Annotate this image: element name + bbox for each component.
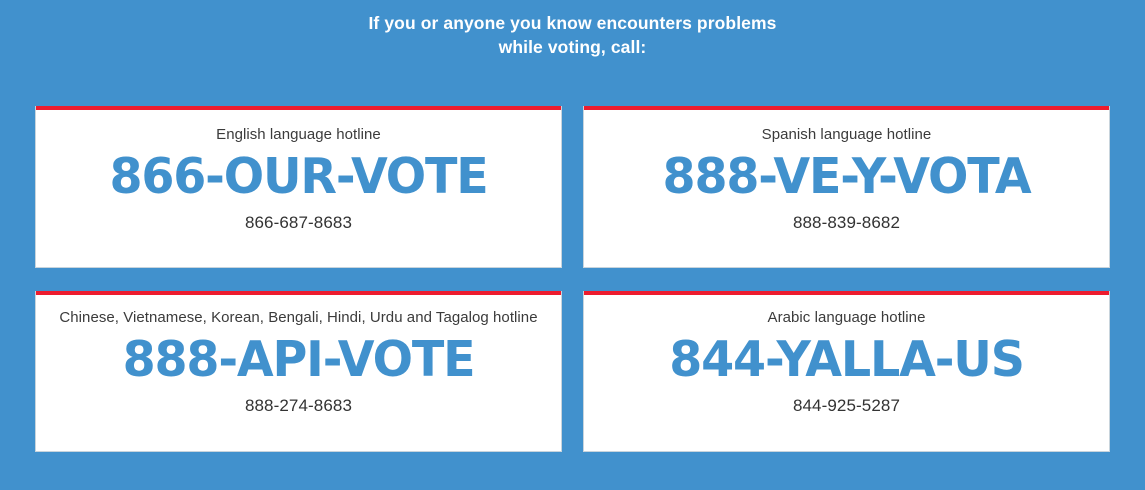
header-line-2: while voting, call: xyxy=(0,35,1145,59)
hotline-card-arabic[interactable]: Arabic language hotline 844-YALLA-US 844… xyxy=(583,291,1110,452)
hotline-phone-number[interactable]: 888-274-8683 xyxy=(36,395,561,417)
card-body: Arabic language hotline 844-YALLA-US 844… xyxy=(584,295,1109,417)
hotline-card-spanish[interactable]: Spanish language hotline 888-VE-Y-VOTA 8… xyxy=(583,106,1110,268)
hotline-phone-number[interactable]: 844-925-5287 xyxy=(584,395,1109,417)
hotline-phone-number[interactable]: 888-839-8682 xyxy=(584,212,1109,234)
header-line-1: If you or anyone you know encounters pro… xyxy=(0,11,1145,35)
hotline-card-english[interactable]: English language hotline 866-OUR-VOTE 86… xyxy=(35,106,562,268)
hotline-label: Spanish language hotline xyxy=(584,125,1109,145)
hotline-card-asian-languages[interactable]: Chinese, Vietnamese, Korean, Bengali, Hi… xyxy=(35,291,562,452)
hotline-label: Arabic language hotline xyxy=(584,308,1109,328)
hotline-page: If you or anyone you know encounters pro… xyxy=(0,0,1145,490)
card-body: English language hotline 866-OUR-VOTE 86… xyxy=(36,110,561,234)
page-header: If you or anyone you know encounters pro… xyxy=(0,11,1145,59)
hotline-vanity-number[interactable]: 888-VE-Y-VOTA xyxy=(592,148,1101,206)
hotline-card-grid: English language hotline 866-OUR-VOTE 86… xyxy=(35,106,1110,452)
hotline-vanity-number[interactable]: 866-OUR-VOTE xyxy=(44,148,553,206)
hotline-vanity-number[interactable]: 888-API-VOTE xyxy=(44,331,553,389)
card-body: Spanish language hotline 888-VE-Y-VOTA 8… xyxy=(584,110,1109,234)
card-body: Chinese, Vietnamese, Korean, Bengali, Hi… xyxy=(36,295,561,417)
hotline-phone-number[interactable]: 866-687-8683 xyxy=(36,212,561,234)
hotline-vanity-number[interactable]: 844-YALLA-US xyxy=(592,331,1101,389)
hotline-label: Chinese, Vietnamese, Korean, Bengali, Hi… xyxy=(36,308,561,328)
hotline-label: English language hotline xyxy=(36,125,561,145)
